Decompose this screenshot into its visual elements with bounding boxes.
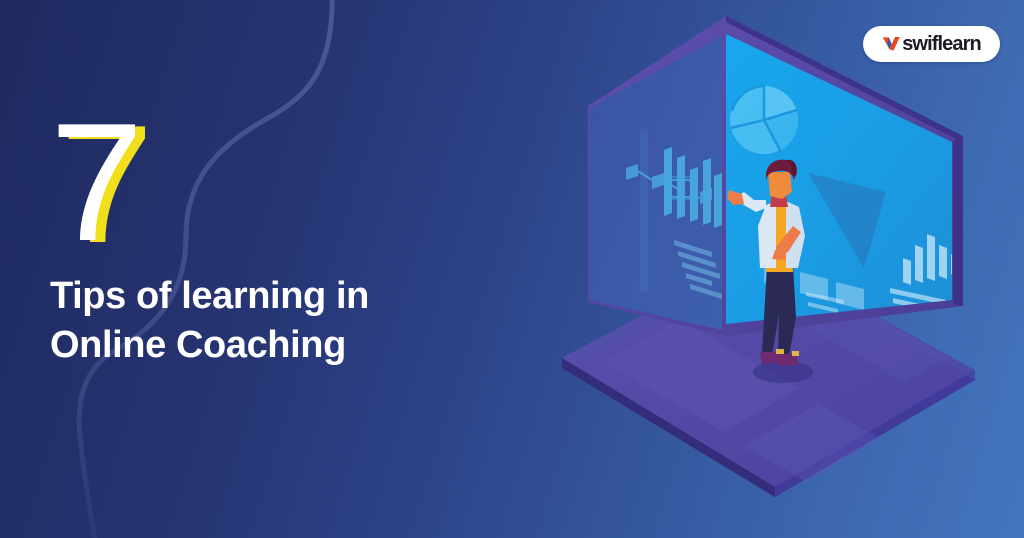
banner-canvas: 7 7 Tips of learning in Online Coaching … xyxy=(0,0,1024,538)
swiflearn-logo[interactable]: swiflearn xyxy=(863,26,1000,62)
page-title-line-1: Tips of learning in xyxy=(50,272,520,321)
person-pants xyxy=(762,265,796,356)
laptop-screen-left-face xyxy=(590,36,722,330)
pie-chart xyxy=(730,86,798,154)
number-seven-fill: 7 xyxy=(50,100,141,265)
swiflearn-logo-text: swiflearn xyxy=(902,33,981,56)
page-title: Tips of learning in Online Coaching xyxy=(50,272,520,370)
number-seven: 7 7 xyxy=(50,100,170,265)
headline-block: 7 7 Tips of learning in Online Coaching xyxy=(0,0,520,538)
swiflearn-checkmark-icon xyxy=(882,35,901,54)
page-title-line-2: Online Coaching xyxy=(50,321,520,370)
